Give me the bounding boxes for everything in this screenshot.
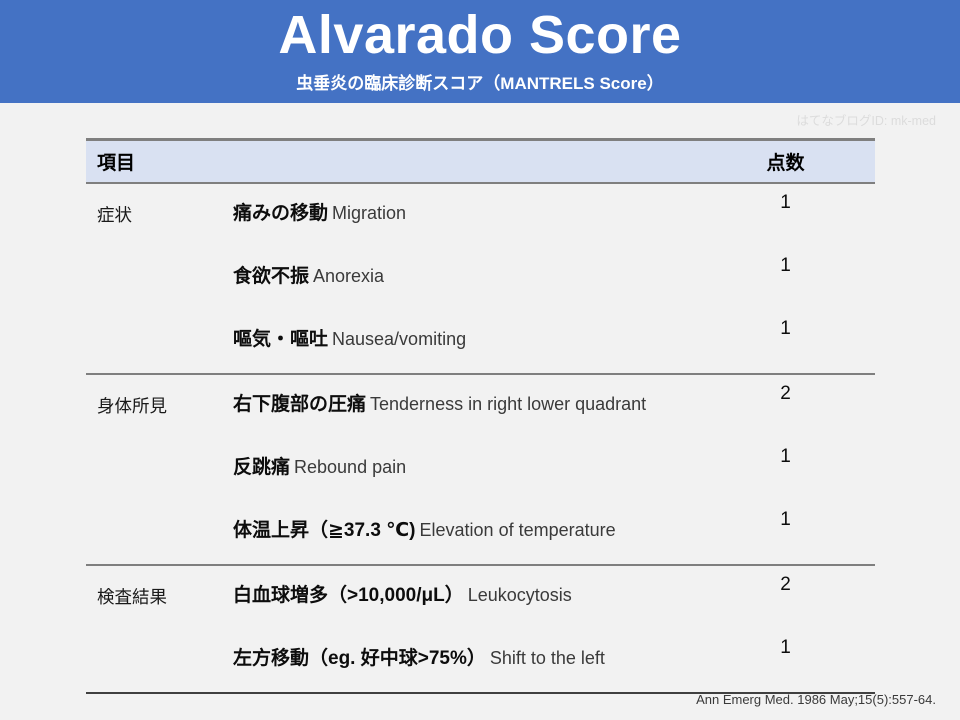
- item-label-ja: 体温上昇（≧37.3 ℃): [233, 520, 416, 541]
- item-label-en: Shift to the left: [490, 648, 605, 668]
- item-label-ja: 左方移動（eg. 好中球>75%）: [233, 648, 486, 669]
- category-label-spacer: [86, 438, 233, 456]
- category-label-spacer: [86, 501, 233, 519]
- score-value: 2: [746, 375, 875, 405]
- table-group-lab-results: 検査結果 白血球増多（>10,000/μL）Leukocytosis 2 左方移…: [86, 566, 875, 692]
- item-label-en: Elevation of temperature: [420, 520, 616, 540]
- item-cell: 嘔気・嘔吐Nausea/vomiting: [233, 310, 746, 351]
- item-cell: 反跳痛Rebound pain: [233, 438, 746, 479]
- score-value: 1: [746, 501, 875, 531]
- category-label: 症状: [86, 184, 233, 227]
- page-subtitle: 虫垂炎の臨床診断スコア（MANTRELS Score）: [296, 75, 663, 92]
- category-label-spacer: [86, 310, 233, 328]
- table-row: 嘔気・嘔吐Nausea/vomiting 1: [86, 310, 875, 373]
- item-cell: 右下腹部の圧痛Tenderness in right lower quadran…: [233, 375, 746, 416]
- item-label-en: Tenderness in right lower quadrant: [370, 394, 646, 414]
- category-label: 身体所見: [86, 375, 233, 418]
- header-banner: Alvarado Score 虫垂炎の臨床診断スコア（MANTRELS Scor…: [0, 0, 960, 103]
- table-row: 検査結果 白血球増多（>10,000/μL）Leukocytosis 2: [86, 566, 875, 629]
- item-label-ja: 白血球増多（>10,000/μL）: [233, 585, 464, 606]
- item-label-en: Leukocytosis: [468, 585, 572, 605]
- category-label: 検査結果: [86, 566, 233, 609]
- item-label-ja: 痛みの移動: [233, 203, 328, 224]
- table-group-physical-findings: 身体所見 右下腹部の圧痛Tenderness in right lower qu…: [86, 375, 875, 564]
- page-title: Alvarado Score: [278, 8, 681, 62]
- item-label-en: Rebound pain: [294, 457, 406, 477]
- score-value: 2: [746, 566, 875, 596]
- item-label-en: Migration: [332, 203, 406, 223]
- table-row: 症状 痛みの移動Migration 1: [86, 184, 875, 247]
- item-cell: 白血球増多（>10,000/μL）Leukocytosis: [233, 566, 746, 607]
- column-header-score: 点数: [746, 148, 875, 175]
- item-label-en: Anorexia: [313, 266, 384, 286]
- score-value: 1: [746, 310, 875, 340]
- column-header-item: 項目: [86, 148, 746, 175]
- item-cell: 左方移動（eg. 好中球>75%）Shift to the left: [233, 629, 746, 670]
- table-row: 反跳痛Rebound pain 1: [86, 438, 875, 501]
- item-label-ja: 反跳痛: [233, 457, 290, 478]
- item-label-ja: 食欲不振: [233, 266, 309, 287]
- item-cell: 食欲不振Anorexia: [233, 247, 746, 288]
- table-row: 左方移動（eg. 好中球>75%）Shift to the left 1: [86, 629, 875, 692]
- blog-id-watermark: はてなブログID: mk-med: [796, 110, 936, 129]
- table-row: 体温上昇（≧37.3 ℃)Elevation of temperature 1: [86, 501, 875, 564]
- citation-text: Ann Emerg Med. 1986 May;15(5):557-64.: [696, 692, 936, 707]
- alvarado-score-table: 項目 点数 症状 痛みの移動Migration 1 食欲不振Anorexia 1…: [86, 138, 875, 694]
- score-value: 1: [746, 247, 875, 277]
- item-label-ja: 嘔気・嘔吐: [233, 329, 328, 350]
- category-label-spacer: [86, 247, 233, 265]
- item-cell: 体温上昇（≧37.3 ℃)Elevation of temperature: [233, 501, 746, 542]
- table-group-symptoms: 症状 痛みの移動Migration 1 食欲不振Anorexia 1 嘔気・嘔吐…: [86, 184, 875, 373]
- score-value: 1: [746, 184, 875, 214]
- table-row: 身体所見 右下腹部の圧痛Tenderness in right lower qu…: [86, 375, 875, 438]
- table-header-row: 項目 点数: [86, 141, 875, 182]
- table-row: 食欲不振Anorexia 1: [86, 247, 875, 310]
- item-label-en: Nausea/vomiting: [332, 329, 466, 349]
- score-value: 1: [746, 629, 875, 659]
- score-value: 1: [746, 438, 875, 468]
- item-cell: 痛みの移動Migration: [233, 184, 746, 225]
- category-label-spacer: [86, 629, 233, 647]
- item-label-ja: 右下腹部の圧痛: [233, 394, 366, 415]
